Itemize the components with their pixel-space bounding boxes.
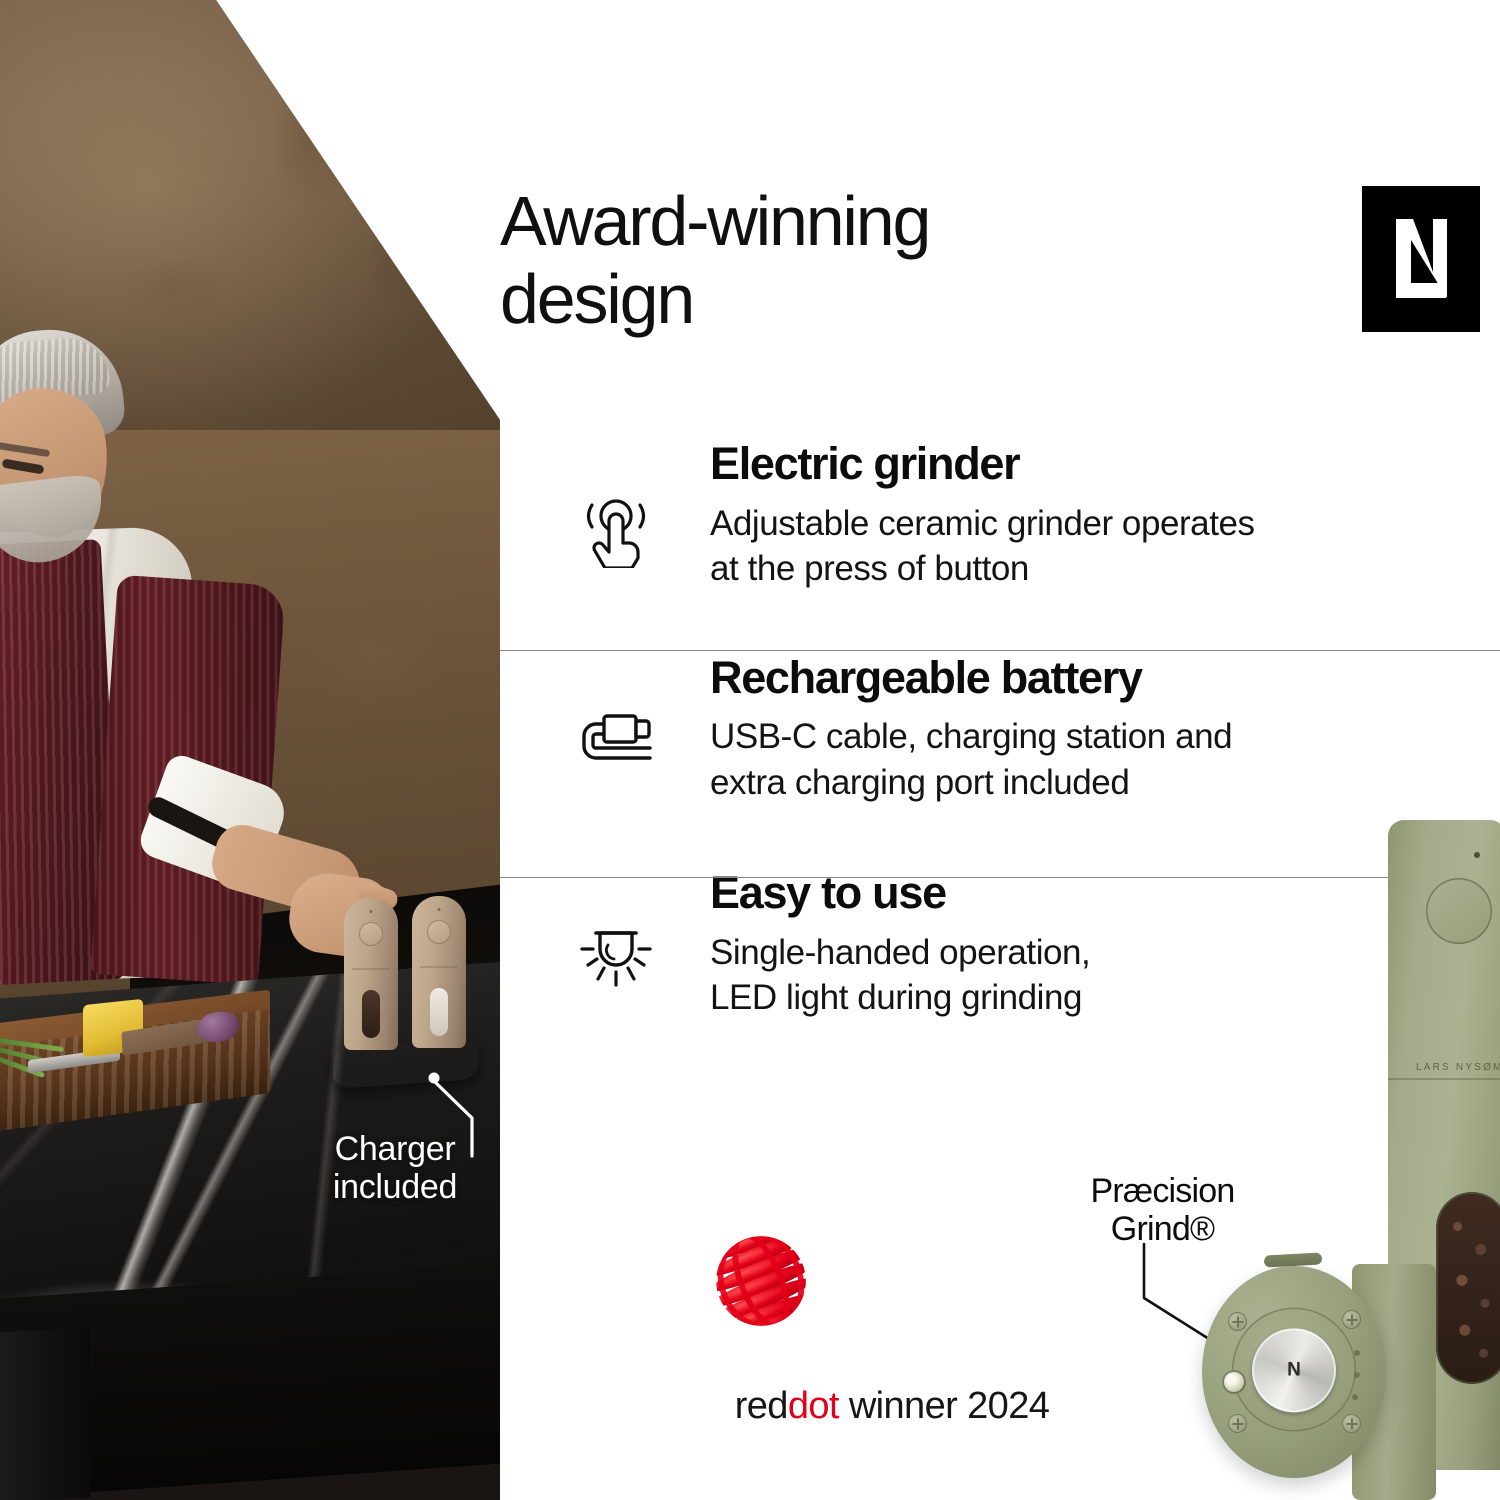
person-figure	[0, 330, 284, 1030]
reddot-red: red	[735, 1385, 788, 1427]
pepper-window	[362, 990, 380, 1038]
feature-desc-line2: extra charging port included	[710, 763, 1129, 802]
indicator-dot	[1352, 1394, 1358, 1400]
feature-desc-line2: at the press of button	[710, 549, 1029, 588]
screw	[1342, 1310, 1361, 1329]
grinder-seam	[352, 968, 390, 970]
ln-monogram-icon	[1362, 186, 1480, 332]
precision-callout-line1: Præcision	[1091, 1172, 1235, 1210]
screw	[1228, 1312, 1247, 1331]
headline-line1: Award-winning	[500, 182, 929, 260]
status-led	[370, 910, 373, 913]
grinder-seam	[1388, 1078, 1500, 1080]
precision-grind-callout: Præcision Grind®	[1060, 1172, 1265, 1248]
page-title: Award-winning design	[500, 183, 1200, 338]
led-light-icon	[578, 919, 654, 995]
charger-callout-line2: included	[333, 1168, 457, 1206]
feature-divider-2	[500, 877, 1390, 878]
taupe-pepper-grinder	[344, 898, 398, 1050]
lars-nysom-logo	[1362, 186, 1480, 332]
feature-description: USB-C cable, charging station and extra …	[710, 714, 1500, 805]
feature-desc-line1: Single-handed operation,	[710, 933, 1090, 972]
grinder-button	[359, 922, 383, 946]
grinder-power-button	[1426, 878, 1492, 944]
reddot-award-badge: reddot winner 2024	[712, 1232, 1072, 1428]
green-grinder-base-view: N	[1202, 1258, 1428, 1500]
screw	[1342, 1414, 1361, 1433]
headline-line2: design	[500, 260, 693, 338]
charger-included-callout: Charger included	[300, 1130, 490, 1206]
dial-logo: N	[1287, 1359, 1301, 1381]
tap-finger-icon	[578, 492, 654, 568]
reddot-sphere-icon	[712, 1232, 810, 1330]
feature-desc-line2: LED light during grinding	[710, 978, 1082, 1017]
feature-desc-line1: Adjustable ceramic grinder operates	[710, 504, 1255, 543]
indicator-dot	[1354, 1372, 1360, 1378]
feature-divider-1	[500, 650, 1500, 651]
status-led	[1474, 852, 1480, 858]
feature-list: Electric grinder Adjustable ceramic grin…	[500, 440, 1500, 1021]
status-led	[438, 908, 441, 911]
taupe-salt-grinder	[412, 896, 466, 1048]
reddot-winner-year: winner 2024	[839, 1385, 1049, 1427]
feature-title: Rechargeable battery	[710, 654, 1500, 703]
salt-window	[430, 988, 448, 1036]
reddot-award-text: reddot winner 2024	[712, 1385, 1072, 1428]
reddot-dot: dot	[788, 1385, 839, 1427]
feature-description: Adjustable ceramic grinder operates at t…	[710, 501, 1500, 592]
counter-leg	[0, 1328, 90, 1500]
indicator-dot	[1354, 1350, 1360, 1356]
screw	[1228, 1414, 1247, 1433]
precision-grind-dial: N	[1252, 1328, 1336, 1412]
feature-rechargeable-battery: Rechargeable battery USB-C cable, chargi…	[500, 654, 1500, 806]
usb-c-plug-icon	[578, 702, 654, 778]
peppercorn-window	[1436, 1192, 1500, 1384]
feature-title: Electric grinder	[710, 440, 1500, 489]
brand-engraving: LARS NYSØM	[1416, 1062, 1500, 1073]
feature-electric-grinder: Electric grinder Adjustable ceramic grin…	[500, 440, 1500, 592]
feature-description: Single-handed operation, LED light durin…	[710, 930, 1500, 1021]
grinder-button	[427, 920, 451, 944]
feature-desc-line1: USB-C cable, charging station and	[710, 717, 1232, 756]
grinder-seam	[420, 966, 458, 968]
lifestyle-photo-panel: Charger included	[0, 0, 500, 1500]
charger-callout-line1: Charger	[335, 1130, 456, 1168]
feature-easy-to-use: Easy to use Single-handed operation, LED…	[500, 869, 1500, 1021]
grinder-bottom-face: N	[1202, 1266, 1386, 1478]
led-lamp	[1222, 1370, 1246, 1394]
